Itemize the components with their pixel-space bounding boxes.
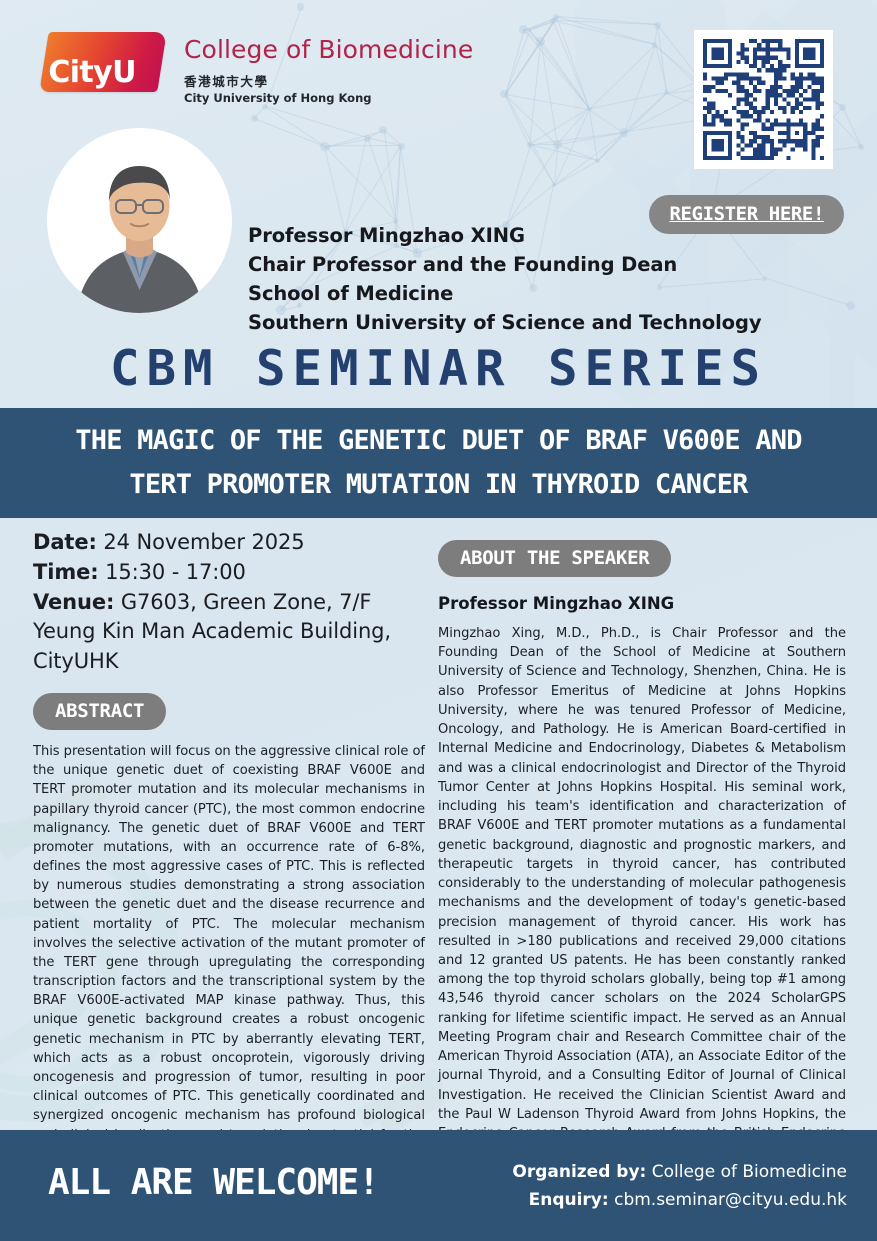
speaker-school: School of Medicine <box>248 280 761 309</box>
talk-title-banner: THE MAGIC OF THE GENETIC DUET OF BRAF V6… <box>0 408 877 518</box>
right-column: ABOUT THE SPEAKER Professor Mingzhao XIN… <box>438 540 846 1220</box>
event-time-label: Time: <box>33 560 99 584</box>
event-time-value: 15:30 - 17:00 <box>99 560 246 584</box>
speaker-role: Chair Professor and the Founding Dean <box>248 251 761 280</box>
cityu-mark-icon <box>39 32 167 92</box>
about-speaker-name: Professor Mingzhao XING <box>438 594 846 613</box>
organizer-line: Organized by: College of Biomedicine <box>512 1158 847 1186</box>
qr-code[interactable] <box>694 30 833 169</box>
poster-header: College of Biomedicine 香港城市大學 City Unive… <box>0 0 877 330</box>
event-time: Time: 15:30 - 17:00 <box>33 558 425 588</box>
series-title: CBM SEMINAR SERIES <box>0 340 877 397</box>
event-venue: Venue: G7603, Green Zone, 7/F Yeung Kin … <box>33 588 425 677</box>
speaker-institution: Southern University of Science and Techn… <box>248 309 761 338</box>
abstract-heading: ABSTRACT <box>33 693 166 730</box>
footer-contact: Organized by: College of Biomedicine Enq… <box>512 1158 847 1214</box>
speaker-name: Professor Mingzhao XING <box>248 222 761 251</box>
talk-title-line-2: TERT PROMOTER MUTATION IN THYROID CANCER <box>129 463 747 507</box>
university-name-chinese: 香港城市大學 <box>184 71 473 90</box>
seminar-poster: College of Biomedicine 香港城市大學 City Unive… <box>0 0 877 1241</box>
event-venue-label: Venue: <box>33 590 114 614</box>
organizer-value: College of Biomedicine <box>646 1162 847 1182</box>
speaker-portrait <box>47 128 232 313</box>
enquiry-value: cbm.seminar@cityu.edu.hk <box>609 1190 847 1210</box>
college-name: College of Biomedicine <box>184 36 473 64</box>
about-speaker-heading: ABOUT THE SPEAKER <box>438 540 671 577</box>
speaker-headline: Professor Mingzhao XING Chair Professor … <box>248 222 761 337</box>
organizer-label: Organized by: <box>512 1162 646 1182</box>
cityu-logo: College of Biomedicine 香港城市大學 City Unive… <box>44 32 473 105</box>
event-date-value: 24 November 2025 <box>97 530 305 554</box>
university-name-english: City University of Hong Kong <box>184 91 473 105</box>
enquiry-label: Enquiry: <box>529 1190 609 1210</box>
poster-footer: ALL ARE WELCOME! Organized by: College o… <box>0 1130 877 1241</box>
left-column: Date: 24 November 2025 Time: 15:30 - 17:… <box>33 528 425 1202</box>
talk-title-line-1: THE MAGIC OF THE GENETIC DUET OF BRAF V6… <box>75 419 801 463</box>
event-date-label: Date: <box>33 530 97 554</box>
enquiry-line: Enquiry: cbm.seminar@cityu.edu.hk <box>512 1186 847 1214</box>
all-are-welcome-text: ALL ARE WELCOME! <box>48 1162 379 1203</box>
event-date: Date: 24 November 2025 <box>33 528 425 558</box>
